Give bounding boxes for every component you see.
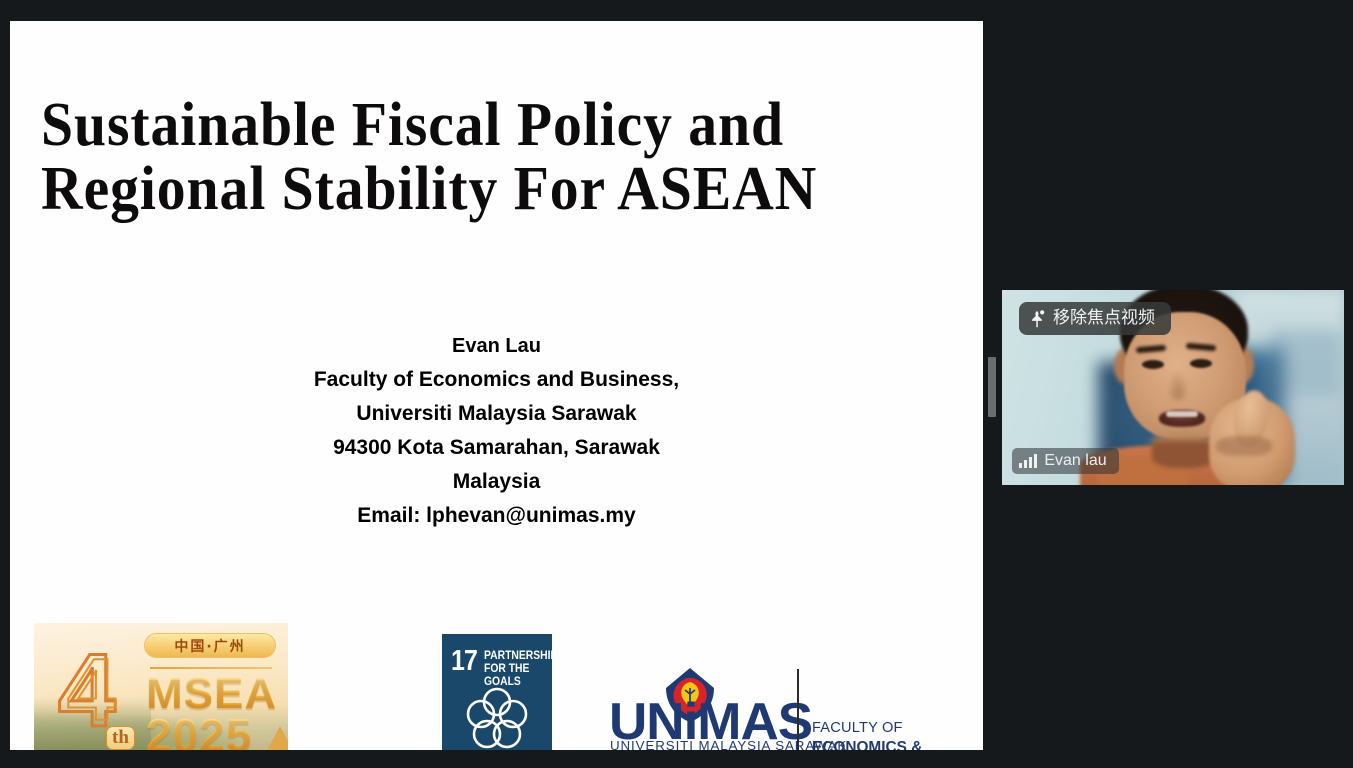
participant-video-tile[interactable]: 移除焦点视频 Evan lau	[1002, 290, 1344, 485]
author-email: Email: lphevan@unimas.my	[10, 499, 983, 533]
msea-wordmark: MSEA	[146, 673, 277, 714]
msea-city-badge: 中国·广州	[144, 633, 276, 658]
remove-spotlight-button[interactable]: 移除焦点视频	[1019, 302, 1171, 335]
author-affiliation-line1: Faculty of Economics and Business,	[10, 363, 983, 397]
author-name: Evan Lau	[10, 329, 983, 363]
sdg-goal-17-logo: 17 PARTNERSHIPS FOR THE GOALS	[442, 634, 552, 750]
shared-screen-scrollbar-thumb[interactable]	[988, 357, 996, 417]
author-address: 94300 Kota Samarahan, Sarawak	[10, 431, 983, 465]
video-person-eye-right	[1190, 359, 1212, 368]
remove-spotlight-label: 移除焦点视频	[1053, 310, 1155, 327]
video-person-teeth	[1166, 411, 1198, 417]
sdg-partnership-circles-icon	[464, 686, 530, 750]
participant-name-badge[interactable]: Evan lau	[1012, 448, 1119, 474]
msea-conference-logo: 4 4 th 中国·广州 MSEA 2025	[34, 623, 288, 750]
video-person-eye-left	[1142, 360, 1164, 369]
msea-ordinal-suffix: th	[106, 726, 135, 750]
unimas-faculty-text: FACULTY OF ECONOMICS & BUSINESS	[812, 719, 980, 750]
participant-name-label: Evan lau	[1044, 453, 1106, 469]
video-person-nose	[1167, 370, 1189, 400]
sdg-number: 17	[451, 647, 477, 675]
video-person-collar	[1152, 442, 1216, 468]
unimas-faculty-line2: ECONOMICS & BUSINESS	[812, 739, 922, 750]
msea-corner-accent	[264, 726, 288, 750]
slide-author-block: Evan Lau Faculty of Economics and Busine…	[10, 329, 983, 533]
author-country: Malaysia	[10, 465, 983, 499]
unimas-vertical-divider	[797, 669, 799, 750]
pin-icon	[1030, 310, 1045, 328]
msea-city-badge-label: 中国·广州	[174, 636, 245, 656]
msea-ordinal-number-inner: 4	[67, 646, 112, 734]
msea-year: 2025	[146, 713, 252, 750]
slide-title: Sustainable Fiscal Policy and Regional S…	[41, 93, 906, 221]
unimas-faculty-logo: UNiMAS UNIVERSITI MALAYSIA SARAWAK FACUL…	[605, 666, 980, 750]
sdg-goal-text: PARTNERSHIPS FOR THE GOALS	[484, 650, 552, 689]
unimas-faculty-line1: FACULTY OF	[812, 720, 903, 736]
author-affiliation-line2: Universiti Malaysia Sarawak	[10, 397, 983, 431]
video-person-fingers	[1216, 436, 1272, 456]
shared-screen-slide[interactable]: Sustainable Fiscal Policy and Regional S…	[10, 21, 983, 750]
signal-bars-icon	[1019, 454, 1037, 468]
